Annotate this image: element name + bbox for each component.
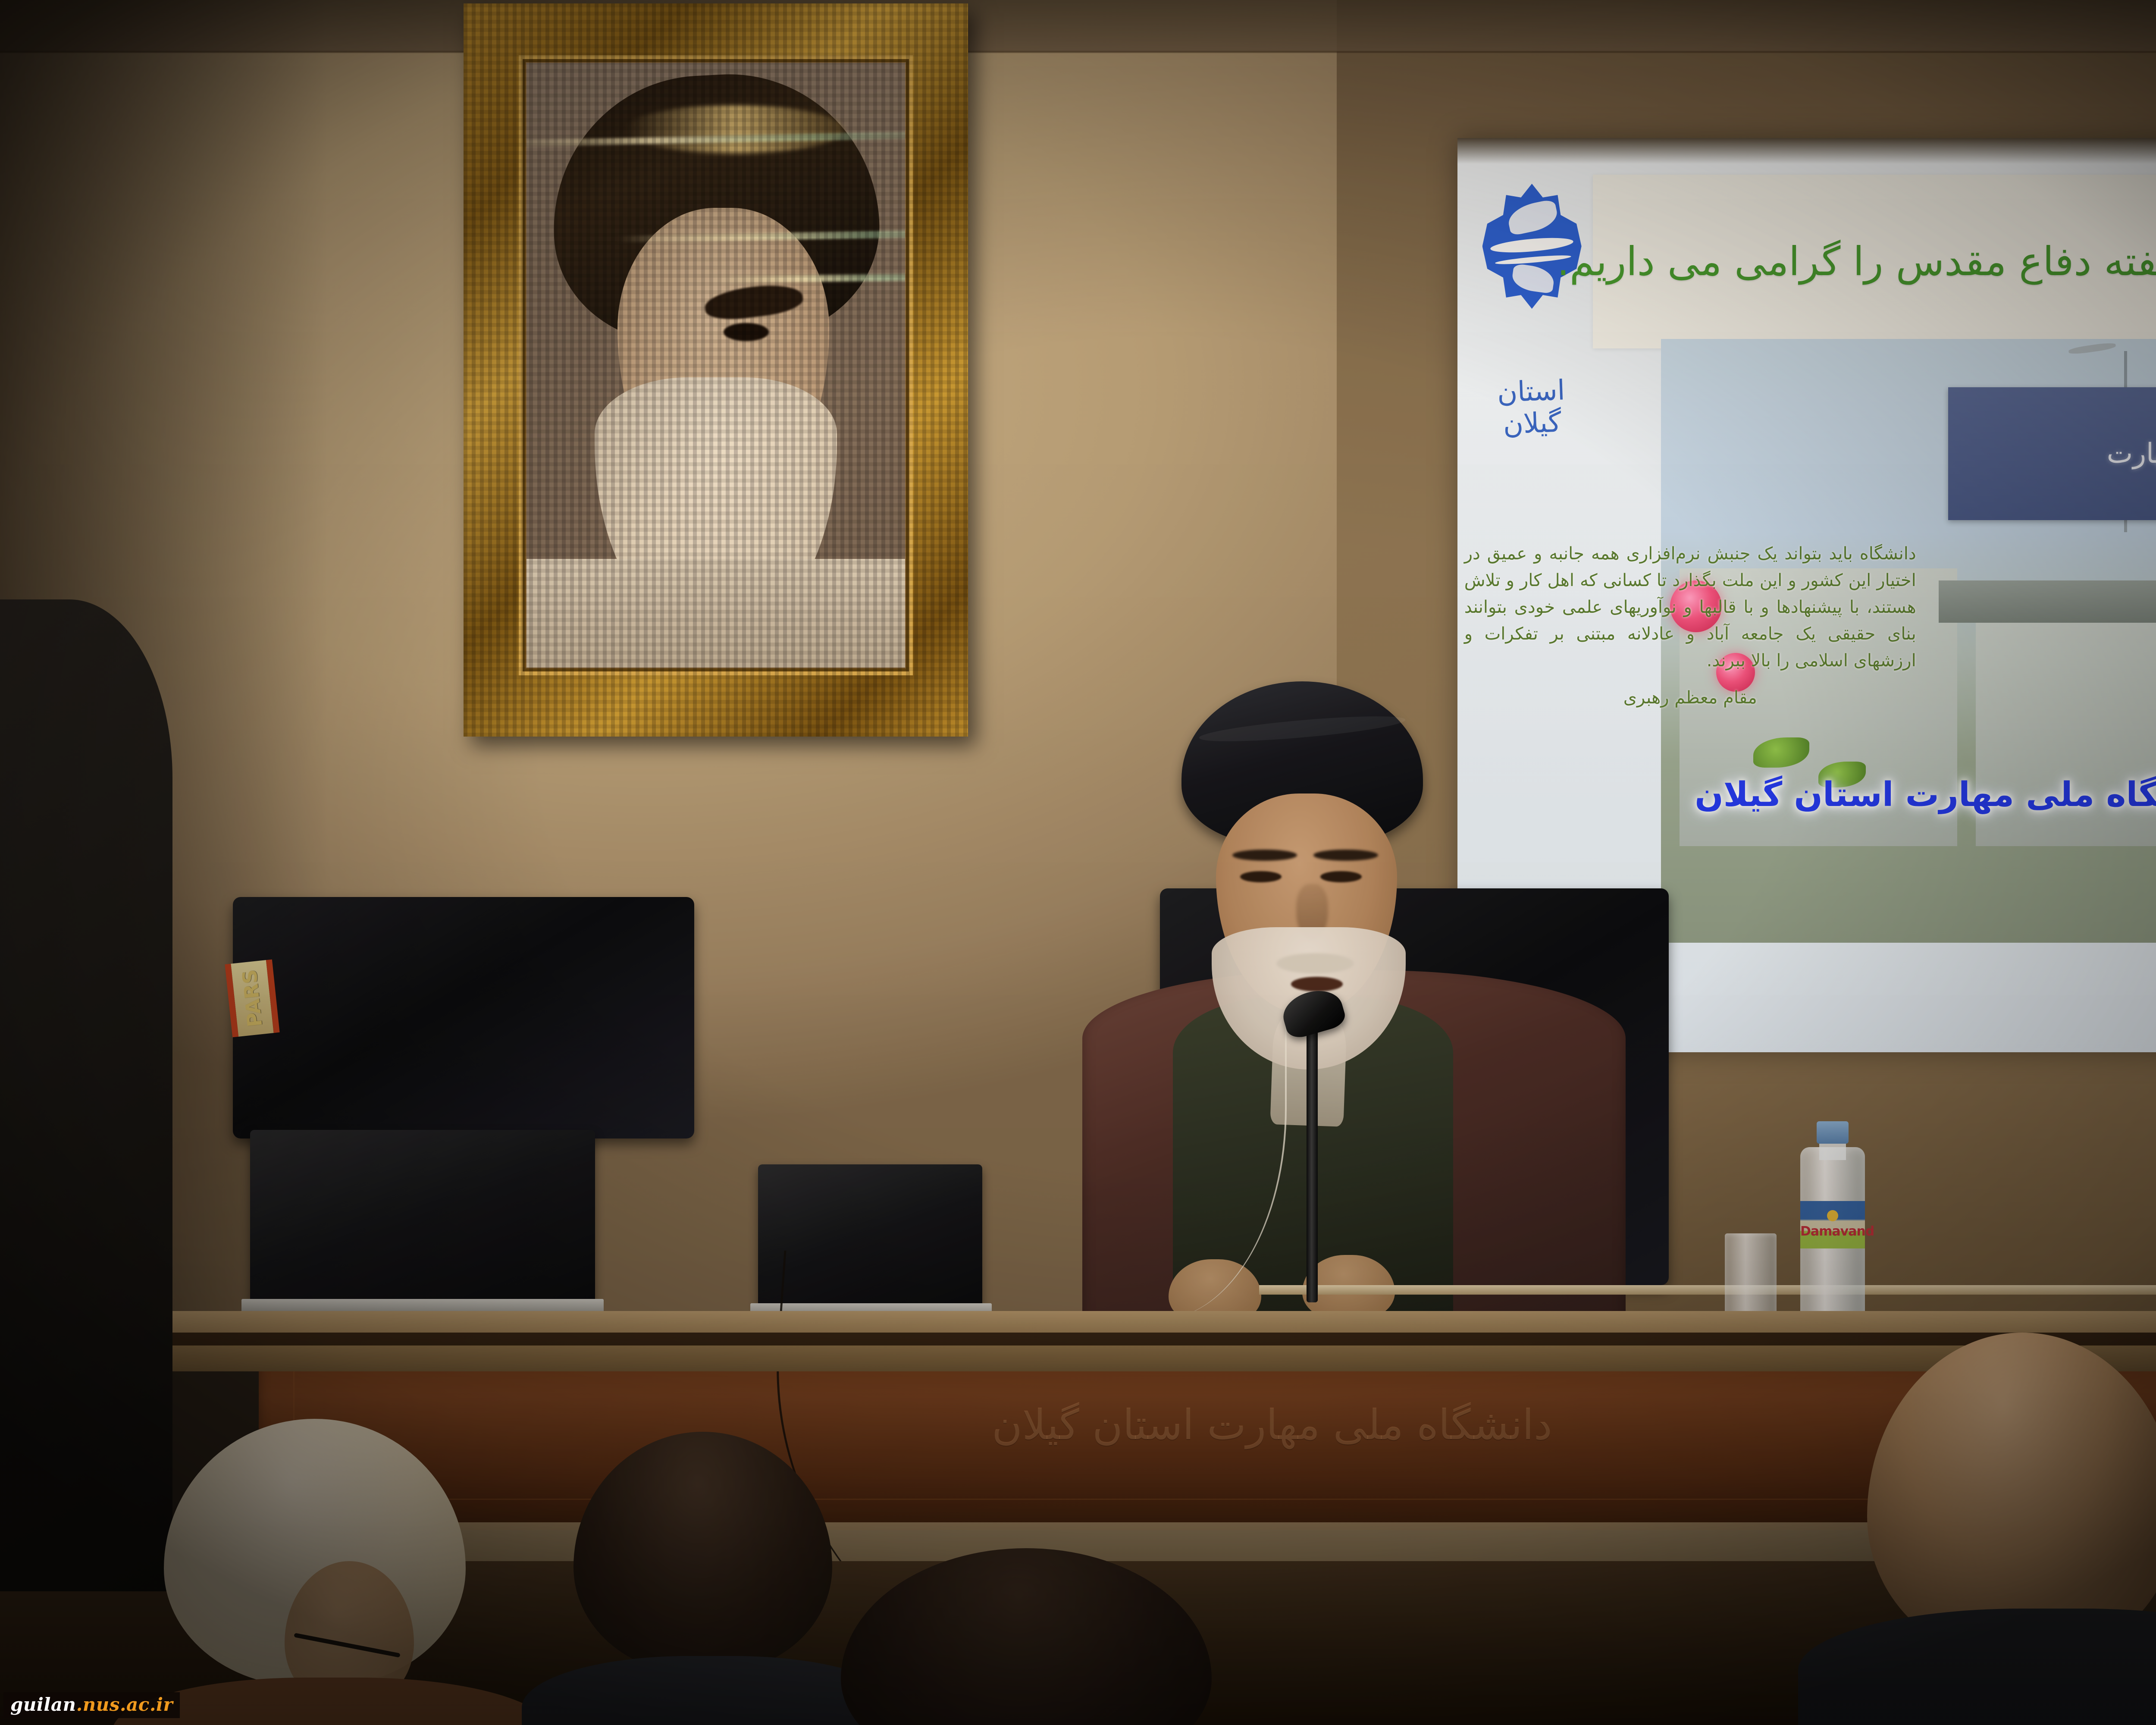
slide-credit-text: روابط عمومی دانشگاه ملی مهارت استان گیلا… bbox=[1695, 775, 2156, 814]
speaker-mouth bbox=[1291, 977, 1343, 991]
chair-brand-text: PARS bbox=[238, 969, 267, 1029]
slide-quote-text: دانشگاه باید بتواند یک جنبش نرم‌افزاری ه… bbox=[1464, 544, 1916, 671]
portrait-shoulders bbox=[526, 559, 905, 668]
portrait-matte bbox=[519, 55, 913, 675]
portrait-face bbox=[617, 208, 830, 510]
water-bottle-cap[interactable] bbox=[1817, 1121, 1849, 1144]
emblem-script-top bbox=[1506, 199, 1560, 236]
audience-member-dark-hair-center bbox=[841, 1548, 1212, 1725]
slide-province-label: استان گیلان bbox=[1474, 374, 1589, 442]
chair-left: PARS bbox=[233, 897, 694, 1138]
audience-member-dark-hair-left bbox=[573, 1432, 849, 1725]
laptop-left-screen bbox=[250, 1130, 595, 1302]
glass-glare-1 bbox=[526, 130, 905, 147]
portrait-eye bbox=[724, 323, 769, 341]
slide-credit-band: روابط عمومی دانشگاه ملی مهارت استان گیلا… bbox=[1698, 768, 2156, 822]
water-bottle-brand-text: Damavand bbox=[1800, 1224, 1865, 1239]
speaker-eye-right bbox=[1320, 871, 1362, 882]
building-sign: دانشگاه ملی مهارت bbox=[1948, 387, 2156, 520]
speaker-eye-left bbox=[1240, 871, 1282, 882]
portrait-turban-highlight bbox=[625, 105, 844, 154]
watermark-suffix: .nus.ac.ir bbox=[76, 1694, 173, 1715]
dark-hair-center bbox=[841, 1548, 1212, 1725]
water-bottle-sun-icon bbox=[1827, 1210, 1838, 1221]
standing-person-left-foreground bbox=[0, 599, 172, 1591]
chair-plastic-wrap-left bbox=[228, 892, 699, 1144]
portrait-turban bbox=[546, 67, 885, 350]
site-watermark: guilan.nus.ac.ir bbox=[3, 1692, 180, 1718]
building-roof bbox=[1939, 580, 2156, 623]
slide-header-ribbon: معرفی نموده و هفته دفاع مقدس را گرامی می… bbox=[1593, 175, 2156, 348]
emblem-script-bottom bbox=[1510, 263, 1555, 294]
table-right-ledge bbox=[1259, 1285, 2156, 1295]
audience-member-white-hair-glasses bbox=[164, 1419, 492, 1725]
watermark-prefix: guilan bbox=[10, 1694, 76, 1715]
framed-portrait bbox=[464, 3, 968, 737]
water-bottle[interactable]: Damavand bbox=[1800, 1121, 1865, 1324]
speaker-brow-left bbox=[1232, 850, 1297, 861]
portrait-photo bbox=[526, 63, 905, 668]
building-sign-text: دانشگاه ملی مهارت bbox=[2107, 440, 2156, 467]
chair-brand-tag: PARS bbox=[225, 960, 279, 1038]
dark-hair-left bbox=[573, 1432, 832, 1673]
slide-header-text: معرفی نموده و هفته دفاع مقدس را گرامی می… bbox=[1557, 238, 2156, 285]
glass-glare-3 bbox=[708, 273, 905, 282]
portrait-brow bbox=[703, 281, 804, 323]
portrait-moustache bbox=[701, 395, 792, 432]
conference-hall-photo: استان گیلان معرفی نموده و هفته دفاع مقدس… bbox=[0, 0, 2156, 1725]
glass-glare-2 bbox=[617, 229, 905, 242]
drinking-glass[interactable] bbox=[1725, 1233, 1777, 1322]
portrait-beard bbox=[595, 377, 837, 643]
laptop-left[interactable] bbox=[241, 1130, 604, 1328]
speaker-brow-right bbox=[1313, 850, 1378, 861]
screen-top-shadow bbox=[1457, 138, 2156, 164]
audience-member-bald-right bbox=[1867, 1333, 2156, 1725]
street-lamp-head bbox=[2068, 342, 2116, 355]
speaker-moustache bbox=[1276, 953, 1354, 974]
wall-wainscot-trim bbox=[0, 1333, 2156, 1345]
